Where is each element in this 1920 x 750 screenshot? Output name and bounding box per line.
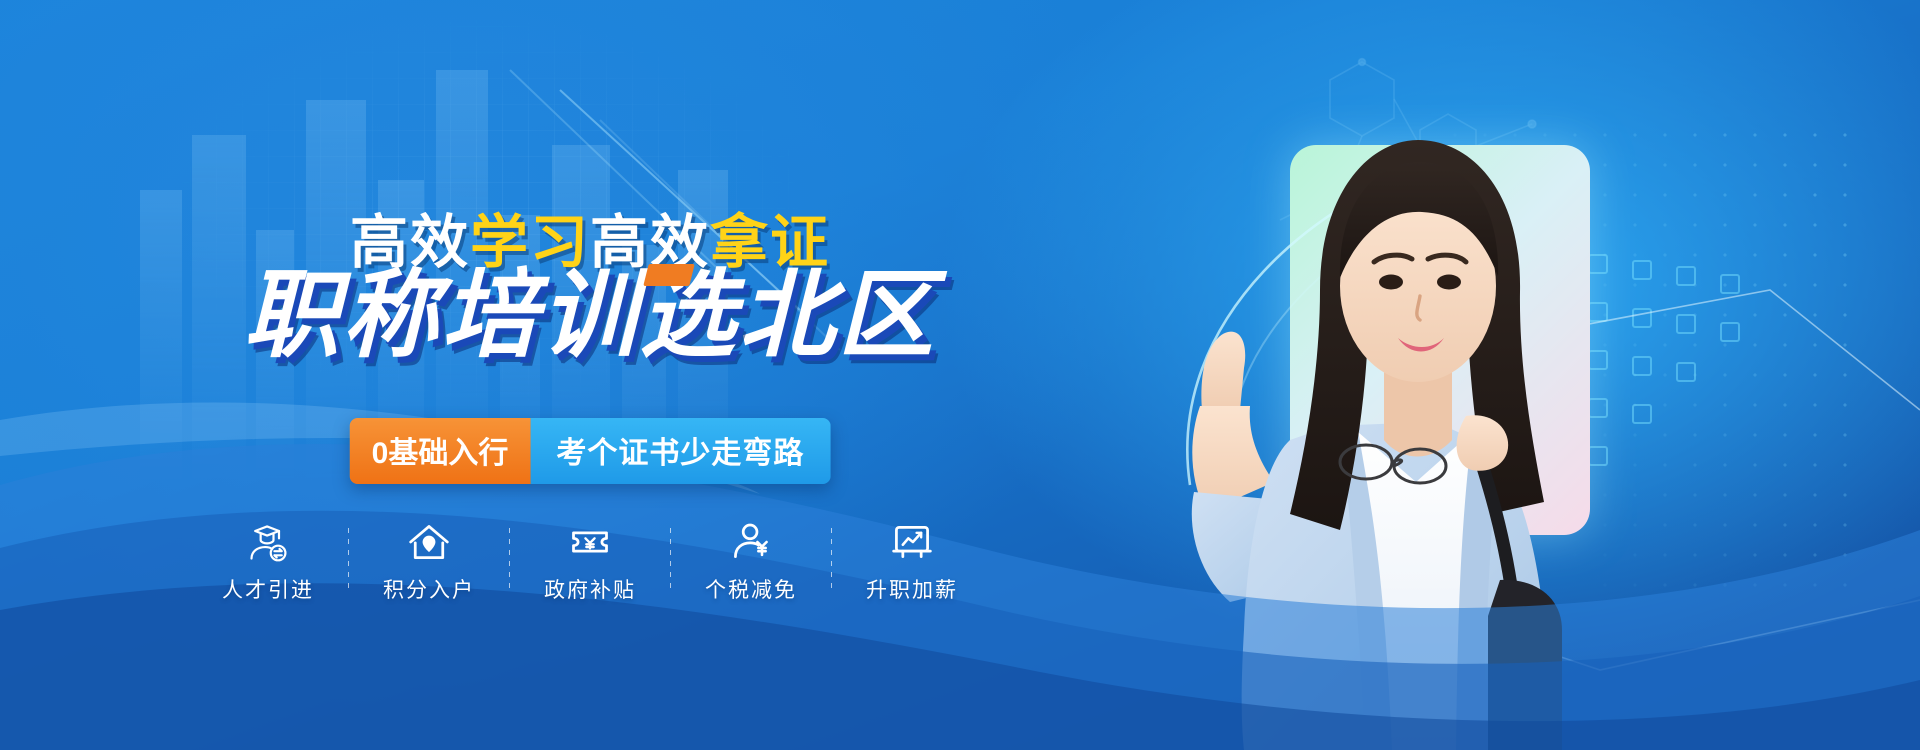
banner-copy: 高效学习高效拿证 职称培训选北区 0基础入行 考个证书少走弯路 <box>0 0 1180 750</box>
feature-item-talent-introduction[interactable]: 人才引进 <box>202 520 334 604</box>
feature-divider <box>348 528 349 590</box>
feature-label: 升职加薪 <box>866 574 958 604</box>
feature-item-tax-reduction[interactable]: 个税减免 <box>685 520 817 604</box>
feature-item-government-subsidy[interactable]: 政府补贴 <box>524 520 656 604</box>
feature-divider <box>670 528 671 590</box>
feature-list: 人才引进 积分入户 <box>0 520 1180 604</box>
badge-zero-basis: 0基础入行 <box>350 418 531 484</box>
headline-text-after: 北区 <box>739 262 937 369</box>
person-yuan-icon <box>729 520 773 564</box>
headline-text-before: 职称培训 <box>244 262 640 369</box>
feature-label: 个税减免 <box>705 574 797 604</box>
feature-label: 人才引进 <box>222 574 314 604</box>
headline: 职称培训选北区 <box>0 268 1180 364</box>
feature-label: 政府补贴 <box>544 574 636 604</box>
feature-item-promotion-raise[interactable]: 升职加薪 <box>846 520 978 604</box>
feature-label: 积分入户 <box>383 574 475 604</box>
growth-chart-board-icon <box>890 520 934 564</box>
feature-divider <box>509 528 510 590</box>
badge-certificate-shortcut: 考个证书少走弯路 <box>530 418 830 484</box>
coupon-yuan-icon <box>568 520 612 564</box>
headline-accent-char: 选 <box>640 262 739 369</box>
graduate-person-icon <box>246 520 290 564</box>
feature-item-points-residency[interactable]: 积分入户 <box>363 520 495 604</box>
promo-banner: 高效学习高效拿证 职称培训选北区 0基础入行 考个证书少走弯路 <box>0 0 1920 750</box>
sub-headline-bar: 0基础入行 考个证书少走弯路 <box>350 418 831 484</box>
house-pin-icon <box>407 520 451 564</box>
feature-divider <box>831 528 832 590</box>
headline-accent-char-wrap: 选 <box>640 268 739 364</box>
